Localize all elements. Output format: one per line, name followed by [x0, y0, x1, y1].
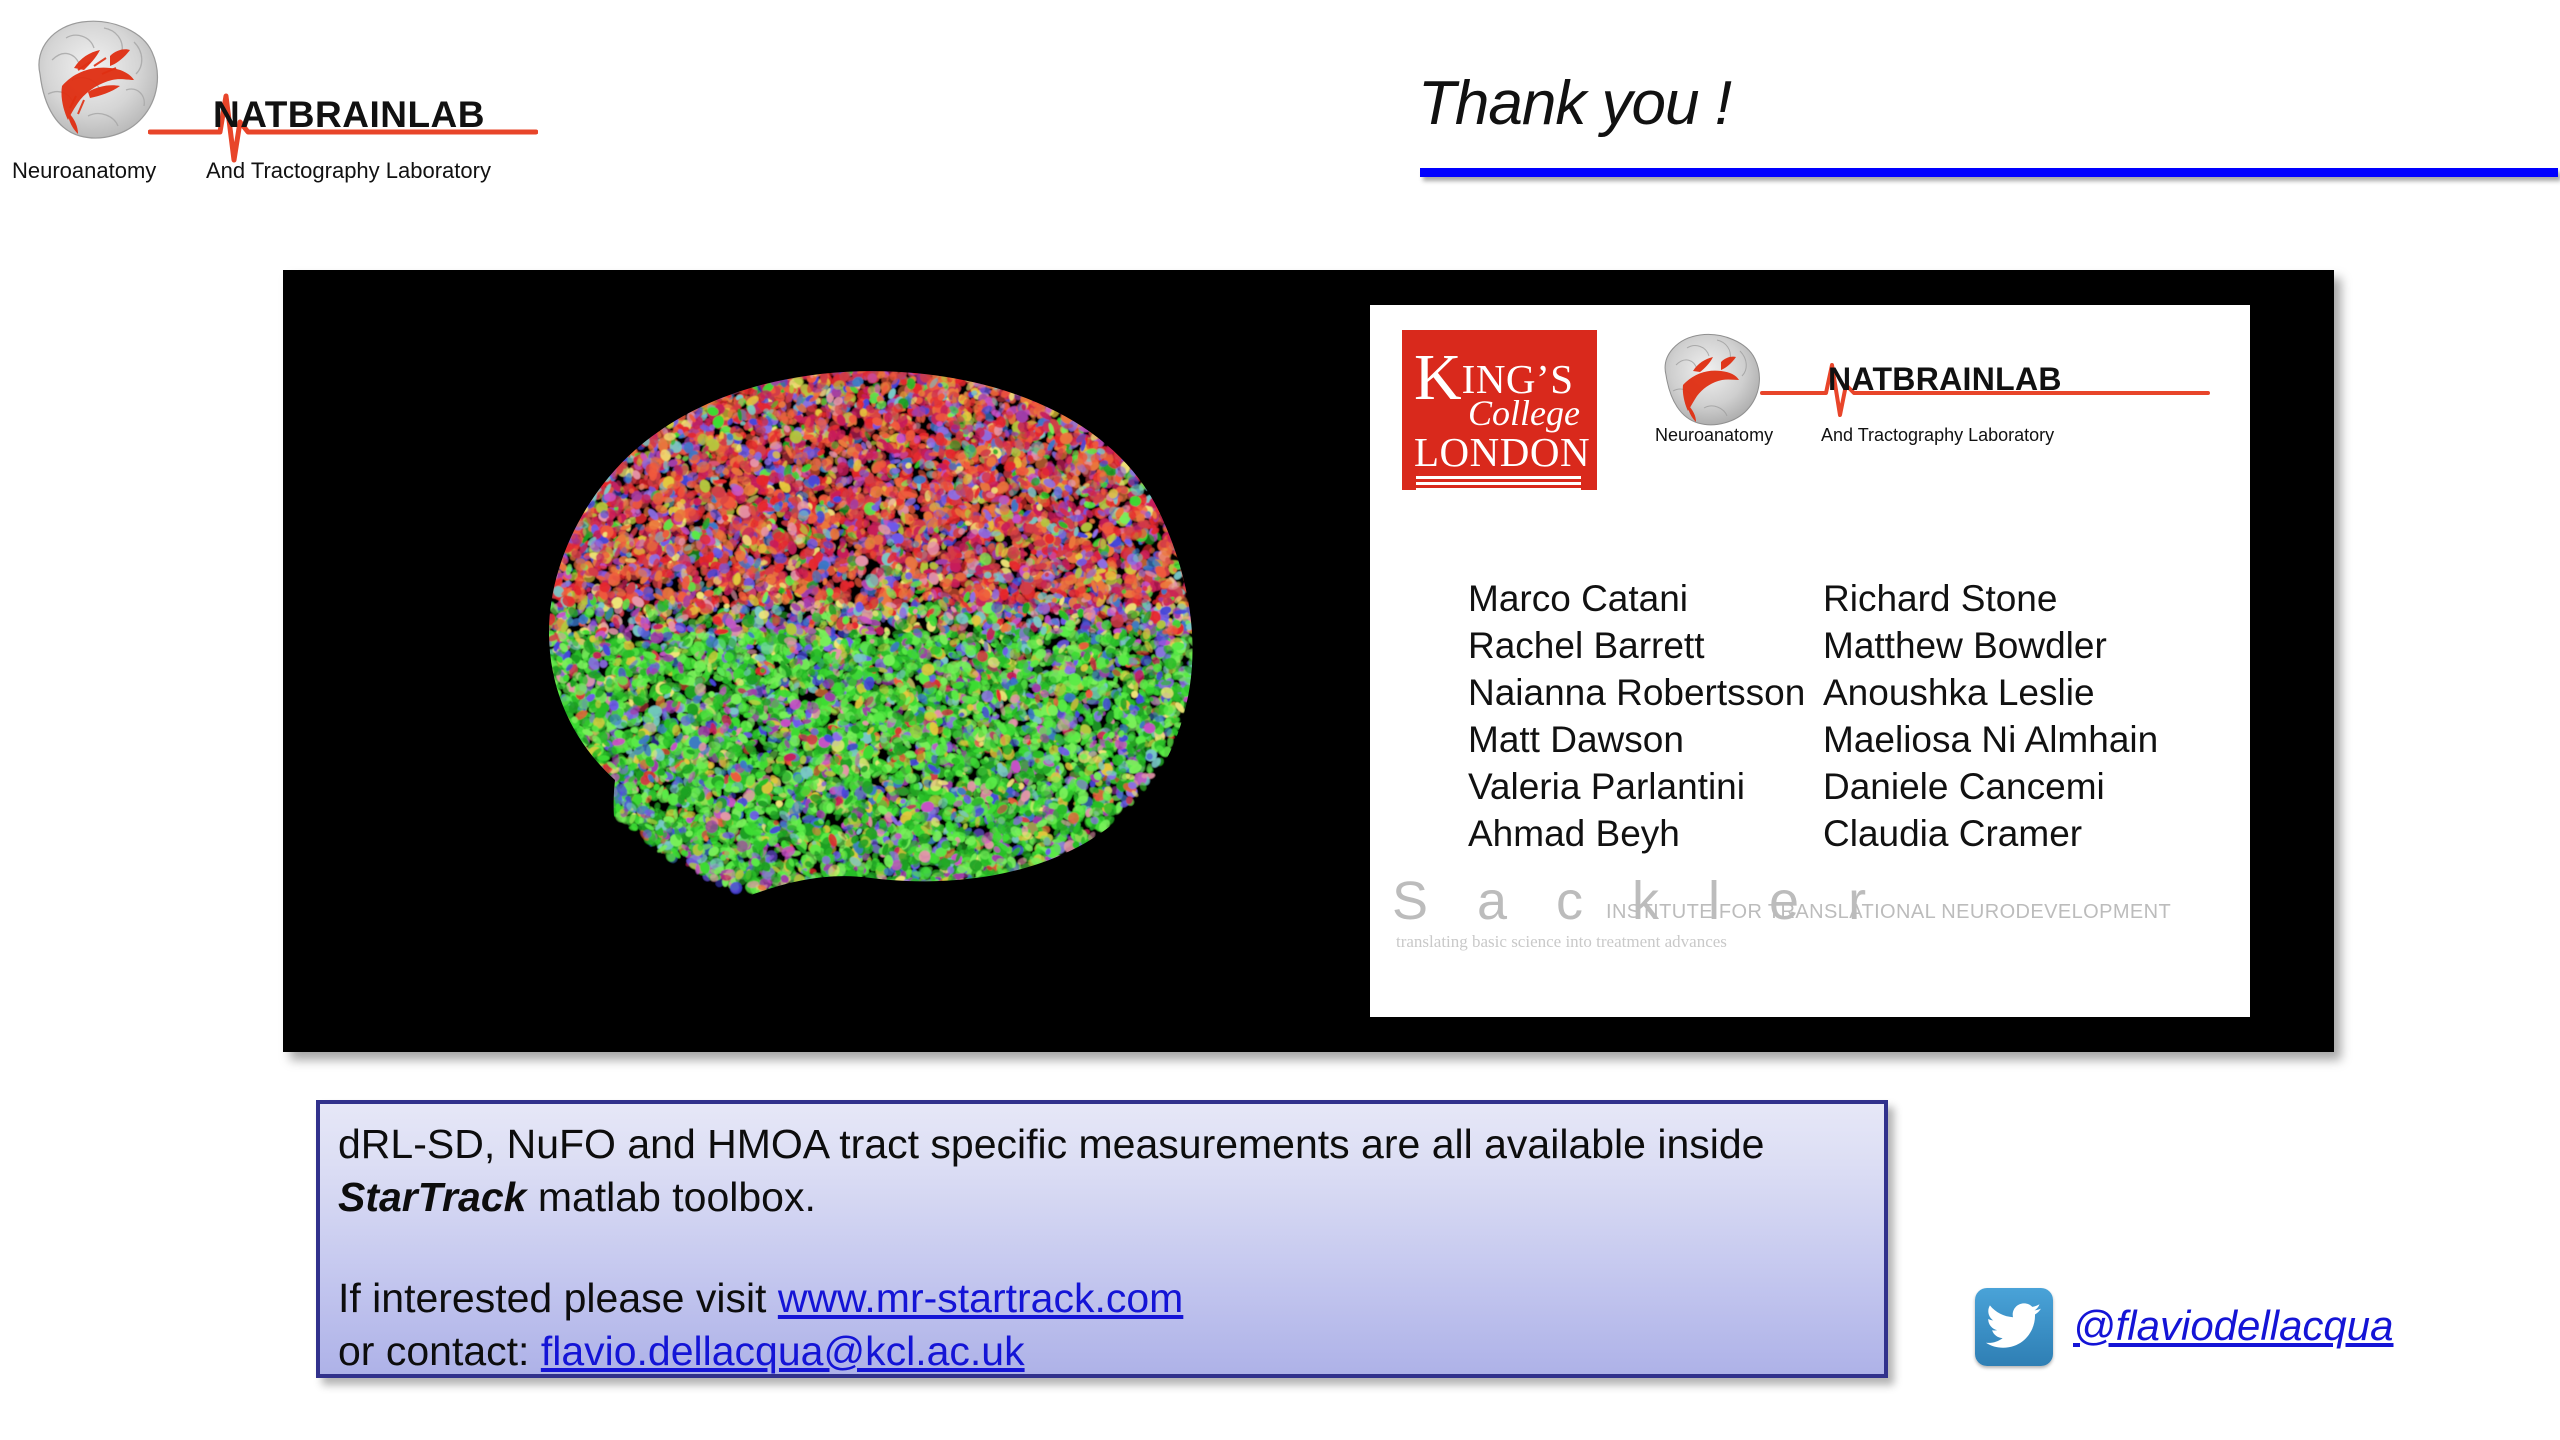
subtitle-left: Neuroanatomy: [1655, 425, 1773, 446]
brain-tract-icon: [1650, 325, 1775, 435]
contributor-name: Claudia Cramer: [1823, 810, 2223, 857]
natbrainlab-wordmark: NATBRAINLAB: [213, 94, 485, 136]
info-line2-prefix: If interested please visit: [338, 1275, 778, 1321]
names-column-left: Marco CataniRachel BarrettNaianna Robert…: [1468, 575, 1823, 857]
contributor-name: Daniele Cancemi: [1823, 763, 2223, 810]
contributor-name: Rachel Barrett: [1468, 622, 1823, 669]
title-underline-rule: [1420, 168, 2558, 177]
sackler-institute-logo: S a c k l e r INSTITUTE FOR TRANSLATIONA…: [1392, 870, 2242, 950]
contributor-name: Marco Catani: [1468, 575, 1823, 622]
contributor-name: Maeliosa Ni Almhain: [1823, 716, 2223, 763]
header-logo: NATBRAINLAB Neuroanatomy And Tractograph…: [8, 6, 538, 196]
sackler-institute-line: INSTITUTE FOR TRANSLATIONAL NEURODEVELOP…: [1606, 901, 2171, 924]
twitter-block[interactable]: @flaviodellacqua: [1975, 1288, 2505, 1376]
email-link[interactable]: flavio.dellacqua@kcl.ac.uk: [541, 1328, 1025, 1374]
sackler-tagline: translating basic science into treatment…: [1396, 932, 1727, 952]
natbrainlab-logo-small: NATBRAINLAB Neuroanatomy And Tractograph…: [1650, 325, 2210, 475]
page-title: Thank you !: [1418, 68, 1731, 139]
contributor-name: Matt Dawson: [1468, 716, 1823, 763]
natbrainlab-wordmark: NATBRAINLAB: [1828, 361, 2062, 398]
contributor-name: Richard Stone: [1823, 575, 2223, 622]
contributor-name: Matthew Bowdler: [1823, 622, 2223, 669]
tractography-image: [343, 310, 1523, 1010]
names-column-right: Richard StoneMatthew BowdlerAnoushka Les…: [1823, 575, 2223, 857]
contributor-name: Ahmad Beyh: [1468, 810, 1823, 857]
info-line1-a: dRL-SD, NuFO and HMOA tract specific mea…: [338, 1121, 1764, 1167]
kcl-london: LONDON: [1414, 428, 1590, 476]
info-box: dRL-SD, NuFO and HMOA tract specific mea…: [316, 1100, 1888, 1378]
credits-panel: KING’S College LONDON: [1370, 305, 2250, 1017]
twitter-bird-icon[interactable]: [1975, 1288, 2053, 1366]
subtitle-right: And Tractography Laboratory: [1821, 425, 2054, 446]
subtitle-right: And Tractography Laboratory: [206, 158, 491, 184]
contributor-name: Anoushka Leslie: [1823, 669, 2223, 716]
startrack-name: StarTrack: [338, 1174, 526, 1220]
kcl-k-letter: K: [1414, 341, 1462, 414]
media-panel: KING’S College LONDON: [283, 270, 2334, 1052]
info-box-text: dRL-SD, NuFO and HMOA tract specific mea…: [338, 1118, 1858, 1378]
contributor-name: Naianna Robertsson: [1468, 669, 1823, 716]
contributor-name: Valeria Parlantini: [1468, 763, 1823, 810]
twitter-handle[interactable]: @flaviodellacqua: [2073, 1302, 2394, 1350]
info-line3-prefix: or contact:: [338, 1328, 541, 1374]
contributor-names: Marco CataniRachel BarrettNaianna Robert…: [1468, 575, 2228, 857]
kings-college-london-logo: KING’S College LONDON: [1402, 330, 1597, 490]
subtitle-left: Neuroanatomy: [12, 158, 156, 184]
kcl-rule-lines: [1416, 476, 1581, 490]
info-line1-b: matlab toolbox.: [526, 1174, 815, 1220]
website-link[interactable]: www.mr-startrack.com: [778, 1275, 1183, 1321]
paragraph-spacer: [338, 1224, 1858, 1272]
